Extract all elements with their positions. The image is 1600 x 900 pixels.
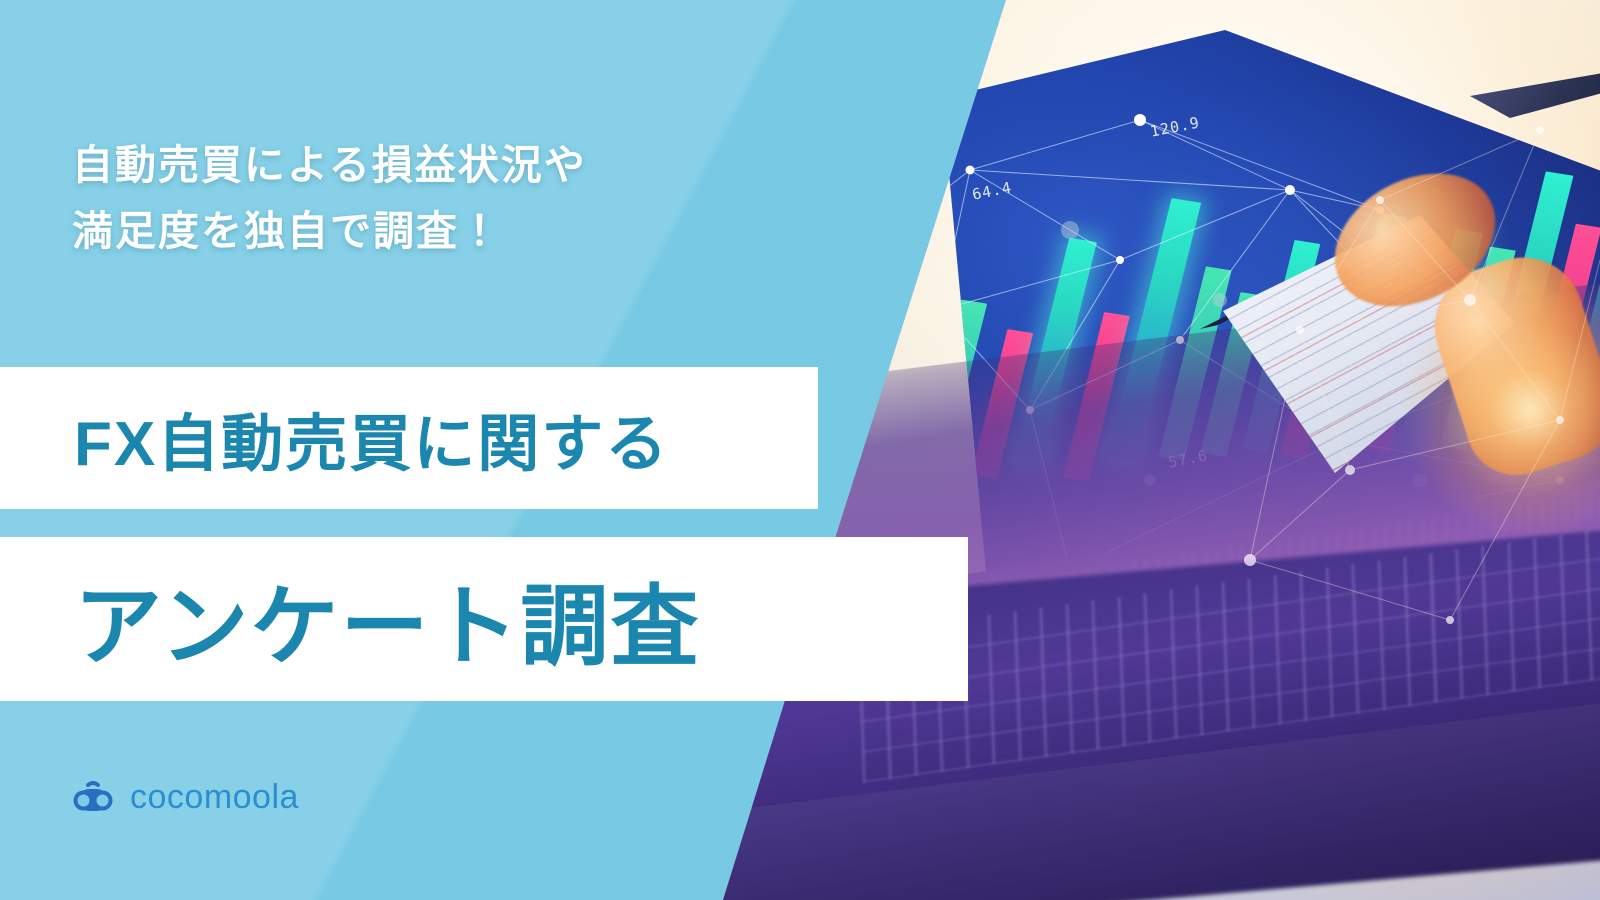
logo[interactable]: cocomoola	[70, 778, 299, 817]
logo-wordmark: cocomoola	[130, 778, 299, 817]
headline-line-1: FX自動売買に関する	[74, 393, 669, 483]
subtitle: 自動売買による損益状況や 満足度を独自で調査！	[72, 132, 852, 265]
binoculars-icon	[70, 781, 116, 815]
headline-line-2: アンケート調査	[74, 556, 700, 683]
subtitle-line-1: 自動売買による損益状況や	[72, 132, 852, 198]
headline-band-1: FX自動売買に関する	[0, 367, 818, 509]
headline-band-2: アンケート調査	[0, 537, 968, 701]
hero-banner: 64.4 120.9 57.6	[0, 0, 1600, 900]
subtitle-line-2: 満足度を独自で調査！	[72, 198, 852, 264]
